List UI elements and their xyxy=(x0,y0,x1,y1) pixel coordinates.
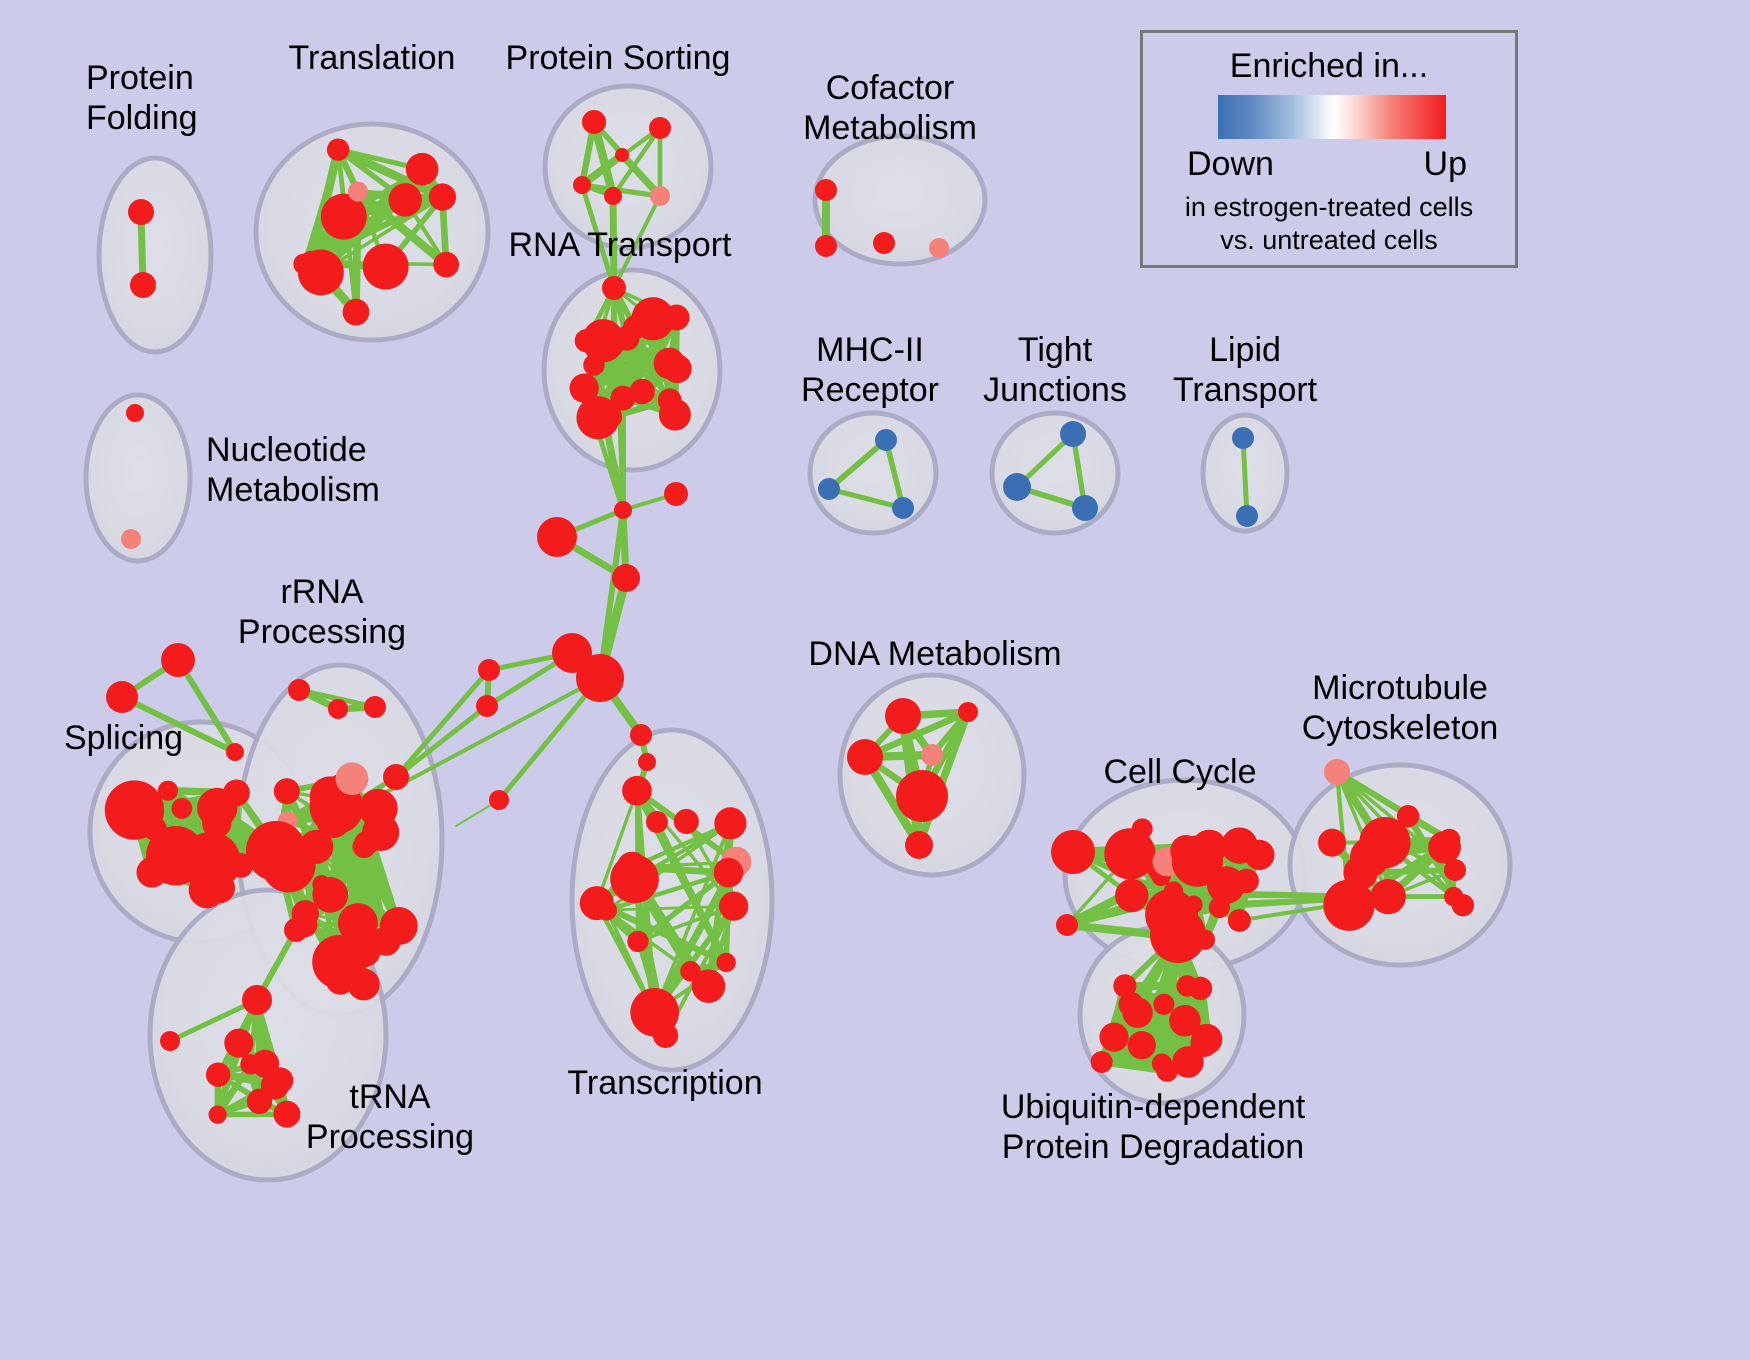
graph-node xyxy=(476,695,498,717)
cluster-label-dna-metabolism: DNA Metabolism xyxy=(808,634,1061,674)
graph-node xyxy=(121,529,141,549)
graph-node xyxy=(1324,759,1350,785)
graph-node xyxy=(161,643,195,677)
graph-node xyxy=(1072,495,1098,521)
graph-node xyxy=(875,429,897,451)
graph-node xyxy=(267,1067,293,1093)
graph-node xyxy=(664,482,688,506)
graph-node xyxy=(158,781,178,801)
graph-node xyxy=(478,659,500,681)
graph-node xyxy=(336,762,369,795)
graph-node xyxy=(433,252,459,278)
graph-node xyxy=(653,1023,678,1048)
graph-node xyxy=(1115,879,1148,912)
graph-node xyxy=(1132,818,1153,839)
graph-node xyxy=(1428,831,1461,864)
graph-node xyxy=(158,843,184,869)
cluster-label-microtubule: Microtubule Cytoskeleton xyxy=(1302,668,1499,748)
graph-node xyxy=(128,803,162,837)
graph-node xyxy=(247,1089,272,1114)
graph-node xyxy=(896,770,948,822)
graph-node xyxy=(537,517,577,557)
graph-node xyxy=(815,235,837,257)
graph-node xyxy=(328,699,348,719)
graph-node xyxy=(209,1106,227,1124)
graph-node xyxy=(674,809,699,834)
legend-title: Enriched in... xyxy=(1143,47,1515,86)
graph-node xyxy=(847,739,883,775)
graph-node xyxy=(1113,974,1136,997)
graph-node xyxy=(364,696,386,718)
graph-node xyxy=(312,875,331,894)
graph-node xyxy=(388,183,422,217)
graph-node xyxy=(1350,837,1390,877)
graph-node xyxy=(604,187,622,205)
graph-node xyxy=(615,148,629,162)
graph-node xyxy=(1228,909,1251,932)
graph-node xyxy=(1056,914,1078,936)
graph-node xyxy=(126,404,144,422)
graph-node xyxy=(274,778,300,804)
graph-node xyxy=(326,966,355,995)
graph-node xyxy=(616,852,647,883)
graph-node xyxy=(873,232,895,254)
graph-node xyxy=(627,931,648,952)
graph-node xyxy=(596,900,617,921)
graph-node xyxy=(352,835,375,858)
cluster-hull xyxy=(810,413,936,533)
cluster-hull xyxy=(1290,765,1510,965)
cluster-hull xyxy=(992,413,1118,533)
cluster-label-cofactor-metab: Cofactor Metabolism xyxy=(803,68,977,148)
cluster-label-protein-sorting: Protein Sorting xyxy=(506,38,731,78)
legend-caption: in estrogen-treated cellsvs. untreated c… xyxy=(1143,191,1515,257)
graph-node xyxy=(130,272,156,298)
cluster-label-rrna-processing: rRNA Processing xyxy=(238,572,406,652)
cluster-label-mhc-ii-receptor: MHC-II Receptor xyxy=(801,330,939,410)
graph-node xyxy=(383,764,409,790)
graph-node xyxy=(1192,830,1227,865)
cluster-label-splicing: Splicing xyxy=(64,718,183,758)
graph-node xyxy=(343,299,370,326)
graph-node xyxy=(106,681,138,713)
graph-node xyxy=(905,831,933,859)
cluster-label-nucleotide-metab: Nucleotide Metabolism xyxy=(206,430,380,510)
legend-color-bar xyxy=(1218,95,1446,139)
graph-node xyxy=(171,798,192,819)
graph-node xyxy=(576,654,624,702)
legend-box: Enriched in... Down Up in estrogen-treat… xyxy=(1140,30,1518,268)
cluster-hull xyxy=(545,86,711,248)
graph-node xyxy=(206,1062,230,1086)
graph-node xyxy=(160,1031,180,1051)
graph-node xyxy=(622,776,652,806)
graph-node xyxy=(921,744,943,766)
graph-node xyxy=(1318,829,1346,857)
graph-node xyxy=(224,1029,253,1058)
graph-node xyxy=(1371,879,1406,914)
graph-node xyxy=(892,497,914,519)
graph-node xyxy=(1060,421,1086,447)
graph-node xyxy=(570,373,599,402)
cluster-label-protein-folding: Protein Folding xyxy=(86,58,198,138)
graph-node xyxy=(325,890,344,909)
graph-node xyxy=(223,779,250,806)
graph-node xyxy=(406,153,439,186)
graph-node xyxy=(1207,866,1245,904)
graph-node xyxy=(1397,805,1419,827)
graph-node xyxy=(650,186,670,206)
graph-node xyxy=(1091,1051,1113,1073)
legend-caption-line2: vs. untreated cells xyxy=(1220,225,1438,255)
graph-node xyxy=(1051,830,1095,874)
graph-node xyxy=(885,698,921,734)
graph-node xyxy=(429,183,456,210)
graph-node xyxy=(226,743,244,761)
graph-node xyxy=(489,790,509,810)
cluster-label-cell-cycle: Cell Cycle xyxy=(1103,752,1256,792)
graph-node xyxy=(1232,427,1254,449)
graph-node xyxy=(1122,997,1152,1027)
graph-node xyxy=(630,724,652,746)
graph-node xyxy=(1128,1031,1156,1059)
graph-node xyxy=(815,179,837,201)
graph-node xyxy=(638,753,656,771)
graph-node xyxy=(1444,859,1466,881)
graph-node xyxy=(659,399,691,431)
graph-node xyxy=(273,1101,300,1128)
graph-node xyxy=(348,182,368,202)
legend-low-label: Down xyxy=(1187,145,1274,184)
graph-node xyxy=(929,238,949,258)
graph-node xyxy=(202,809,231,838)
graph-node xyxy=(1191,1024,1222,1055)
enrichment-map-figure: Protein FoldingTranslationProtein Sortin… xyxy=(0,0,1750,1360)
graph-node xyxy=(714,807,746,839)
graph-node xyxy=(1099,1023,1128,1052)
cluster-hull xyxy=(99,158,211,352)
graph-node xyxy=(300,251,323,274)
cluster-label-transcription: Transcription xyxy=(567,1063,762,1103)
cluster-hull xyxy=(815,136,985,264)
cluster-label-ubiquitin: Ubiquitin-dependent Protein Degradation xyxy=(1001,1087,1305,1167)
graph-node xyxy=(1452,894,1474,916)
graph-node xyxy=(380,907,418,945)
graph-node xyxy=(958,702,978,722)
graph-node xyxy=(1150,907,1206,963)
graph-node xyxy=(714,858,744,888)
graph-node xyxy=(284,918,308,942)
graph-node xyxy=(614,501,632,519)
graph-node xyxy=(242,985,272,1015)
graph-node xyxy=(1152,1053,1172,1073)
graph-node xyxy=(1244,840,1274,870)
graph-node xyxy=(327,138,349,160)
cluster-label-tight-junctions: Tight Junctions xyxy=(983,330,1127,410)
graph-node xyxy=(573,176,591,194)
graph-node xyxy=(1189,977,1212,1000)
graph-node xyxy=(128,199,154,225)
legend-caption-line1: in estrogen-treated cells xyxy=(1185,192,1473,222)
graph-node xyxy=(246,821,306,881)
graph-node xyxy=(719,892,748,921)
graph-node xyxy=(818,478,840,500)
graph-node xyxy=(1153,994,1174,1015)
cluster-label-translation: Translation xyxy=(289,38,456,78)
cluster-label-lipid-transport: Lipid Transport xyxy=(1173,330,1317,410)
graph-node xyxy=(1236,505,1258,527)
graph-node xyxy=(1003,473,1031,501)
graph-node xyxy=(649,117,671,139)
graph-node xyxy=(692,969,726,1003)
graph-node xyxy=(582,110,606,134)
graph-node xyxy=(663,304,689,330)
graph-node xyxy=(363,244,409,290)
graph-node xyxy=(717,953,736,972)
graph-node xyxy=(288,679,310,701)
graph-node xyxy=(646,811,668,833)
graph-node xyxy=(663,354,692,383)
graph-node xyxy=(612,564,640,592)
cluster-label-rna-transport: RNA Transport xyxy=(509,225,732,265)
graph-node xyxy=(602,276,626,300)
cluster-label-trna-processing: tRNA Processing xyxy=(306,1077,474,1157)
legend-high-label: Up xyxy=(1424,145,1467,184)
